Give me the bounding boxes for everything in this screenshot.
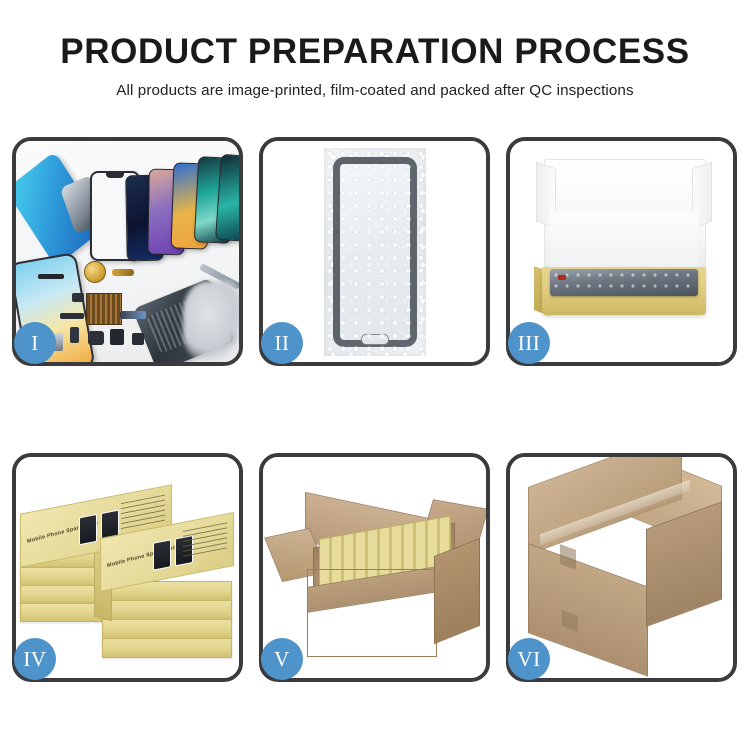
spare-part-graphic: [60, 313, 84, 319]
phone-lineup-graphic: [126, 155, 239, 263]
step-badge-6: VI: [508, 638, 550, 680]
step-panel-2: II: [259, 137, 490, 366]
spare-part-graphic: [110, 329, 124, 345]
step-panel-3: III: [506, 137, 737, 366]
box-body: [102, 638, 232, 658]
step-badge-5: V: [261, 638, 303, 680]
spare-part-graphic: [88, 331, 104, 345]
spare-part-graphic: [70, 327, 79, 343]
spare-part-graphic: [72, 293, 84, 302]
label-sticker: [558, 275, 566, 280]
header: PRODUCT PREPARATION PROCESS All products…: [0, 0, 750, 99]
sealed-carton-graphic: [528, 487, 720, 653]
hand-blur-graphic: [183, 281, 239, 361]
box-lid-screen-image: [79, 513, 97, 544]
wrapped-screen-in-box: [550, 269, 698, 296]
foam-insert-graphic: [550, 211, 698, 273]
screen-outline-graphic: [333, 157, 417, 347]
step-badge-3: III: [508, 322, 550, 364]
page-subtitle: All products are image-printed, film-coa…: [0, 82, 750, 99]
step-panel-6: VI: [506, 453, 737, 682]
open-carton-graphic: [273, 483, 479, 663]
step-panel-1: I: [12, 137, 243, 366]
stacked-boxes-graphic: Mobile Phone Spare Parts Mobile Phone Sp…: [18, 477, 239, 667]
spare-part-graphic: [120, 311, 146, 319]
box-body: [102, 600, 232, 620]
box-body: [102, 619, 232, 639]
bubble-wrapped-screen-graphic: [324, 148, 426, 356]
step-badge-1: I: [14, 322, 56, 364]
box-lid-screen-image: [153, 539, 171, 570]
spare-part-graphic: [38, 274, 64, 279]
box-lid-spec-text: [183, 523, 227, 558]
open-inner-box-graphic: [536, 159, 712, 345]
step-panel-4: Mobile Phone Spare Parts Mobile Phone Sp…: [12, 453, 243, 682]
page-title: PRODUCT PREPARATION PROCESS: [0, 34, 750, 71]
carton-front-face: [307, 569, 437, 657]
step-badge-2: II: [261, 322, 303, 364]
box-lid-spec-text: [121, 495, 165, 530]
spare-part-graphic: [132, 333, 144, 345]
speaker-coil-graphic: [84, 261, 106, 283]
step-panel-5: V: [259, 453, 490, 682]
process-steps-grid: I II III: [12, 137, 738, 682]
carton-right-face: [434, 538, 480, 645]
spare-part-graphic: [112, 269, 134, 276]
step-badge-4: IV: [14, 638, 56, 680]
chip-array-graphic: [86, 293, 122, 325]
